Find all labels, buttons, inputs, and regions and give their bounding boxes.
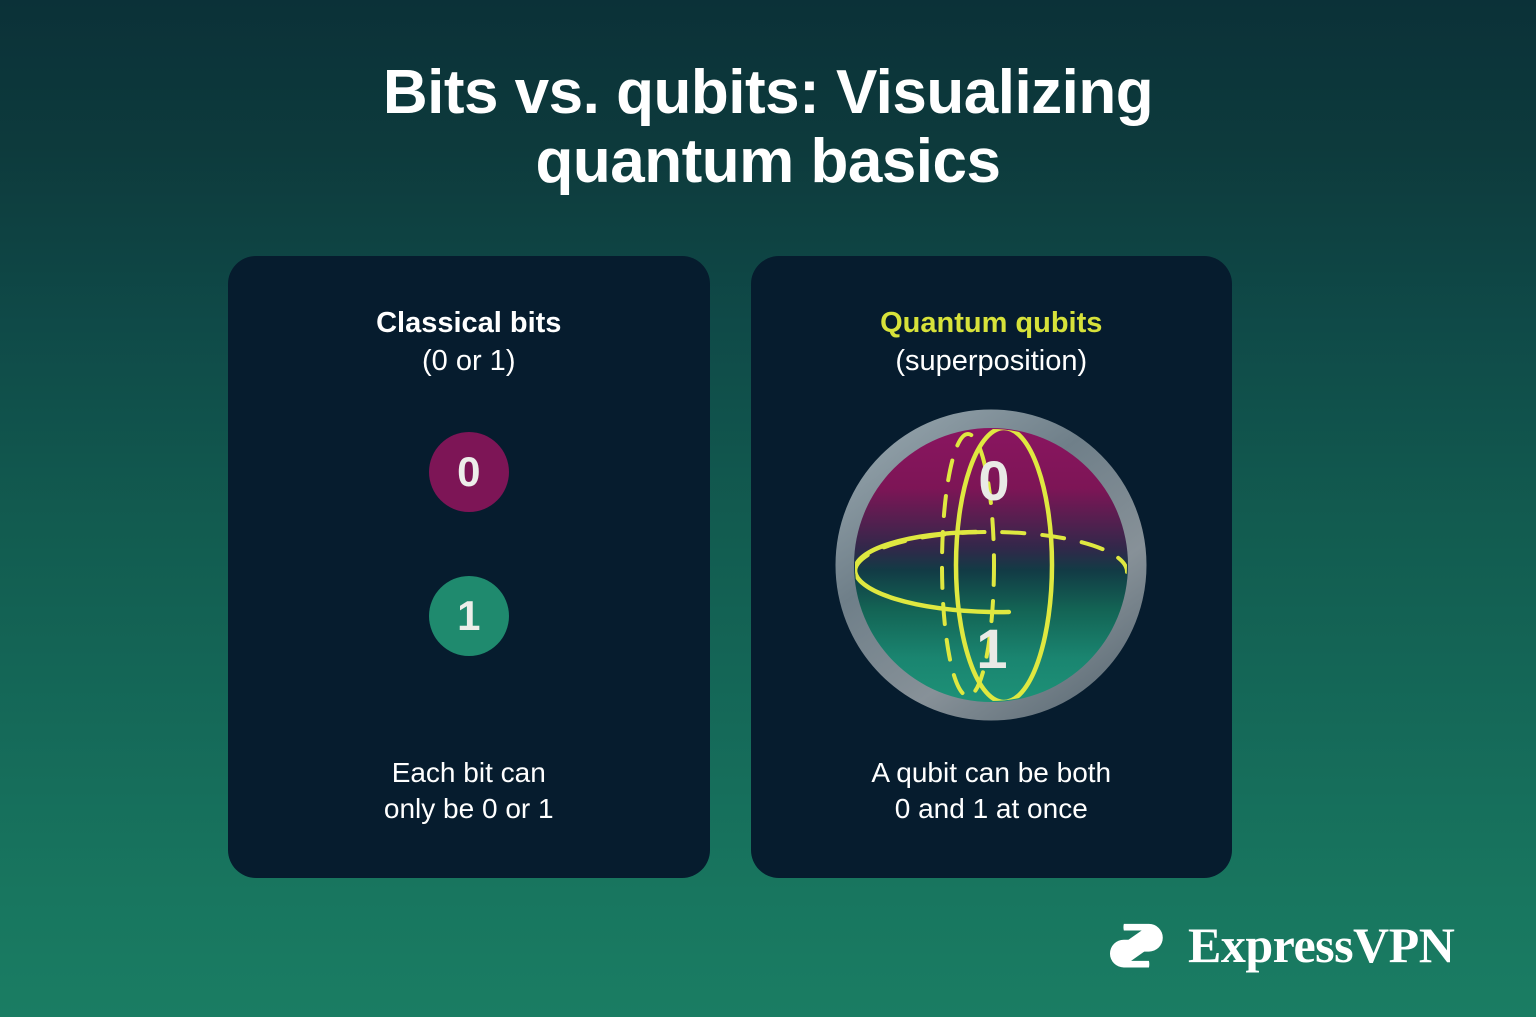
quantum-qubits-note: A qubit can be both 0 and 1 at once <box>751 755 1233 826</box>
expressvpn-e-icon <box>1108 912 1174 978</box>
classical-bits-heading-sub: (0 or 1) <box>376 344 561 378</box>
sphere-pole-label-zero: 0 <box>979 449 1010 512</box>
quantum-qubits-heading-main: Quantum qubits <box>880 306 1102 340</box>
page-title-line-1: Bits vs. qubits: Visualizing <box>0 58 1536 127</box>
classical-bits-note: Each bit can only be 0 or 1 <box>228 755 710 826</box>
expressvpn-wordmark: ExpressVPN <box>1188 920 1454 970</box>
page-title: Bits vs. qubits: Visualizing quantum bas… <box>0 58 1536 197</box>
sphere-pole-label-one: 1 <box>977 617 1008 680</box>
classical-bits-card: Classical bits (0 or 1) 0 1 Each bit can… <box>228 256 710 878</box>
bloch-sphere-icon: 0 1 <box>826 400 1156 730</box>
bit-circle-one: 1 <box>429 576 509 656</box>
quantum-qubits-card: Quantum qubits (superposition) <box>751 256 1233 878</box>
bit-circle-group: 0 1 <box>429 432 509 656</box>
quantum-qubits-note-line-1: A qubit can be both <box>751 755 1233 790</box>
quantum-qubits-heading: Quantum qubits (superposition) <box>880 306 1102 378</box>
page-title-line-2: quantum basics <box>0 127 1536 196</box>
bit-circle-one-label: 1 <box>457 592 480 640</box>
classical-bits-note-line-2: only be 0 or 1 <box>228 791 710 826</box>
quantum-qubits-note-line-2: 0 and 1 at once <box>751 791 1233 826</box>
comparison-cards: Classical bits (0 or 1) 0 1 Each bit can… <box>228 256 1232 878</box>
classical-bits-heading-main: Classical bits <box>376 306 561 340</box>
bit-circle-zero: 0 <box>429 432 509 512</box>
classical-bits-note-line-1: Each bit can <box>228 755 710 790</box>
expressvpn-logo: ExpressVPN <box>1108 912 1454 978</box>
quantum-qubits-heading-sub: (superposition) <box>880 344 1102 378</box>
classical-bits-heading: Classical bits (0 or 1) <box>376 306 561 378</box>
bit-circle-zero-label: 0 <box>457 448 480 496</box>
